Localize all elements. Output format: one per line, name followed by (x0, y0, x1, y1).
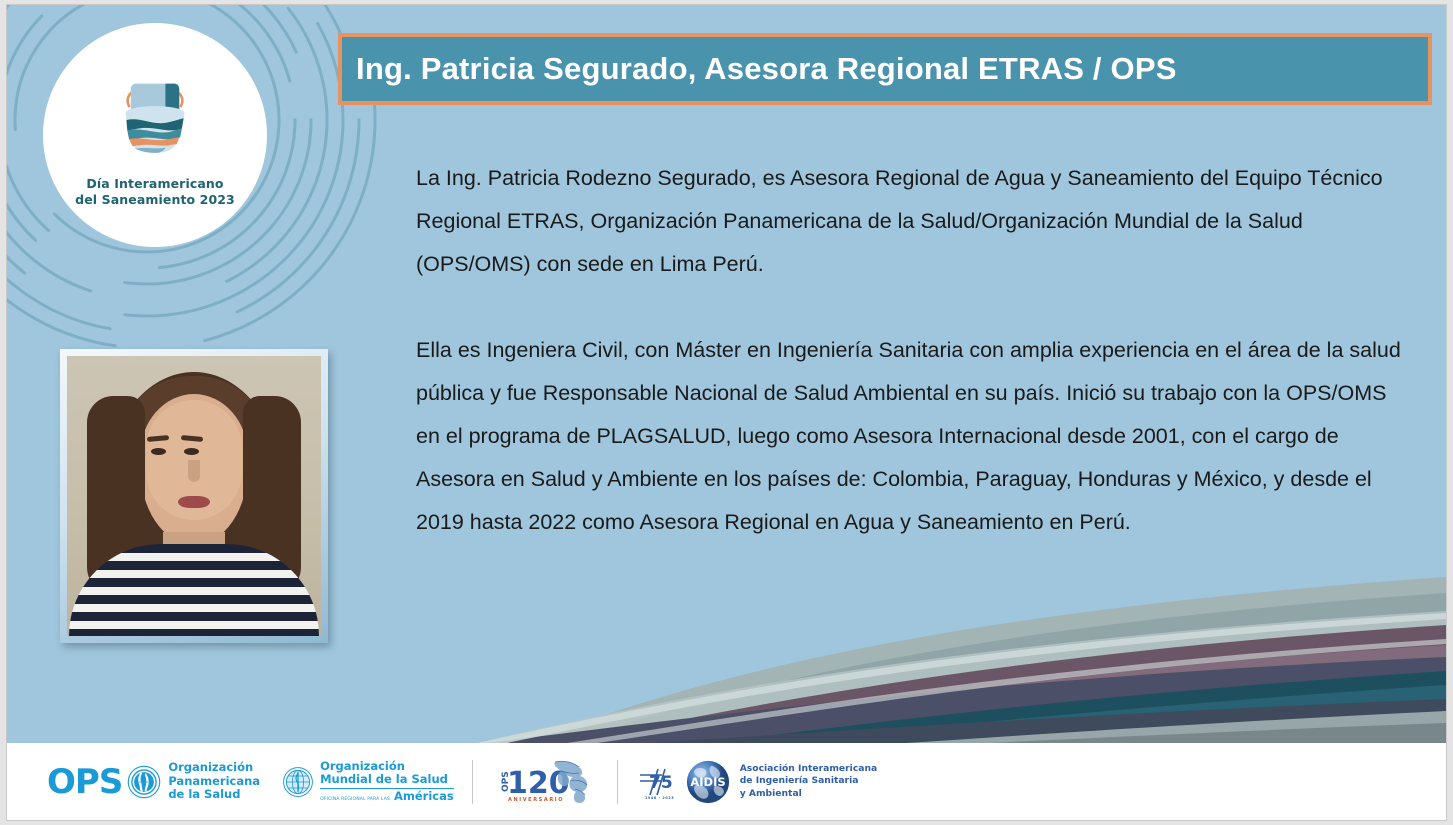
aidis-name: Asociación Interamericana de Ingeniería … (740, 763, 878, 800)
ops-120-anniversary-logo: OPS 120 ANIVERSARIO (491, 759, 599, 805)
ops-120-anniversary-map-icon: OPS 120 ANIVERSARIO (491, 759, 599, 805)
aidis-name-line2: de Ingeniería Sanitaria (740, 775, 859, 786)
page-title: Ing. Patricia Segurado, Asesora Regional… (342, 51, 1177, 87)
biography-text: La Ing. Patricia Rodezno Segurado, es As… (416, 157, 1416, 544)
svg-text:1948 - 2023: 1948 - 2023 (645, 796, 674, 800)
who-region: OFICINA REGIONAL PARA LAS Américas (320, 788, 454, 804)
paho-name: Organización Panamericana de la Salud (168, 761, 260, 802)
aidis-logo: 75 1948 - 2023 (636, 759, 878, 805)
paho-name-line2: Panamericana (168, 774, 260, 788)
speaker-photo-frame (60, 349, 328, 643)
footer-divider-2 (617, 760, 618, 804)
who-region-name: Américas (394, 789, 454, 803)
who-name: Organización Mundial de la Salud OFICINA… (320, 760, 454, 804)
aidis-75-anniversary-icon: 75 1948 - 2023 (636, 762, 676, 802)
biography-paragraph-2: Ella es Ingeniera Civil, con Máster en I… (416, 329, 1416, 544)
who-name-line2: Mundial de la Salud (320, 772, 448, 786)
biography-paragraph-1: La Ing. Patricia Rodezno Segurado, es As… (416, 157, 1416, 286)
paho-name-line3: de la Salud (168, 787, 240, 801)
footer-divider (472, 760, 473, 804)
avatar (67, 356, 321, 636)
who-seal-icon (282, 766, 314, 798)
who-name-line1: Organización (320, 759, 405, 773)
paho-wordmark: OPS (47, 765, 122, 799)
logo-caption: Día Interamericano del Saneamiento 2023 (75, 176, 235, 207)
svg-text:ANIVERSARIO: ANIVERSARIO (508, 797, 564, 803)
paho-name-line1: Organización (168, 760, 253, 774)
slide-canvas: Día Interamericano del Saneamiento 2023 … (7, 5, 1446, 820)
svg-text:75: 75 (649, 773, 673, 793)
aidis-globe-icon: AIDIS (685, 759, 731, 805)
paho-seal-icon (127, 765, 161, 799)
paho-logo: OPS Organización Panamericana de la Salu… (47, 761, 260, 802)
aidis-name-line1: Asociación Interamericana (740, 763, 878, 774)
svg-text:AIDIS: AIDIS (690, 774, 725, 788)
sanitation-toilet-icon (103, 68, 207, 172)
who-logo: Organización Mundial de la Salud OFICINA… (282, 760, 454, 804)
sanitation-day-logo-badge: Día Interamericano del Saneamiento 2023 (43, 23, 267, 247)
who-region-micro: OFICINA REGIONAL PARA LAS (320, 797, 390, 802)
aidis-name-line3: y Ambiental (740, 788, 802, 799)
logo-caption-line1: Día Interamericano (86, 176, 223, 191)
footer-logo-bar: OPS Organización Panamericana de la Salu… (7, 743, 1446, 820)
logo-caption-line2: del Saneamiento 2023 (75, 192, 235, 207)
title-banner: Ing. Patricia Segurado, Asesora Regional… (338, 33, 1432, 105)
